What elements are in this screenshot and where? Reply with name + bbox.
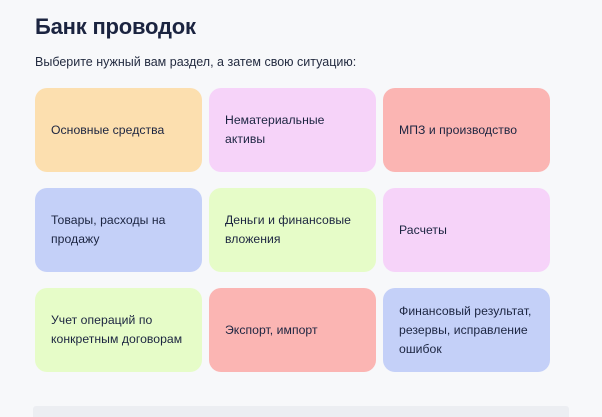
card-label: Нематериальные активы [225,111,360,149]
section-card-osnovnye-sredstva[interactable]: Основные средства [35,88,202,172]
bottom-panel-divider [33,406,569,417]
section-card-eksport-import[interactable]: Экспорт, импорт [209,288,376,372]
page-subtitle: Выберите нужный вам раздел, а затем свою… [35,54,356,71]
card-label: Учет операций по конкретным договорам [51,311,186,349]
card-label: Расчеты [399,221,447,240]
page-title: Банк проводок [35,13,196,41]
card-label: Товары, расходы на продажу [51,211,186,249]
section-card-tovary-raskhody-na-prodazhu[interactable]: Товары, расходы на продажу [35,188,202,272]
card-label: Финансовый результат, резервы, исправлен… [399,302,534,359]
section-card-uchet-operaciy-po-konkretnym-dogovoram[interactable]: Учет операций по конкретным договорам [35,288,202,372]
page-root: Банк проводок Выберите нужный вам раздел… [0,0,602,417]
section-card-finansovyy-rezultat[interactable]: Финансовый результат, резервы, исправлен… [383,288,550,372]
card-label: Основные средства [51,121,164,140]
section-card-mpz-i-proizvodstvo[interactable]: МПЗ и производство [383,88,550,172]
card-label: Экспорт, импорт [225,321,318,340]
section-card-raschety[interactable]: Расчеты [383,188,550,272]
card-label: Деньги и финансовые вложения [225,211,360,249]
section-card-dengi-i-finansovye-vlozheniya[interactable]: Деньги и финансовые вложения [209,188,376,272]
section-card-grid: Основные средства Нематериальные активы … [35,88,550,372]
section-card-nematerialnye-aktivy[interactable]: Нематериальные активы [209,88,376,172]
card-label: МПЗ и производство [399,121,517,140]
